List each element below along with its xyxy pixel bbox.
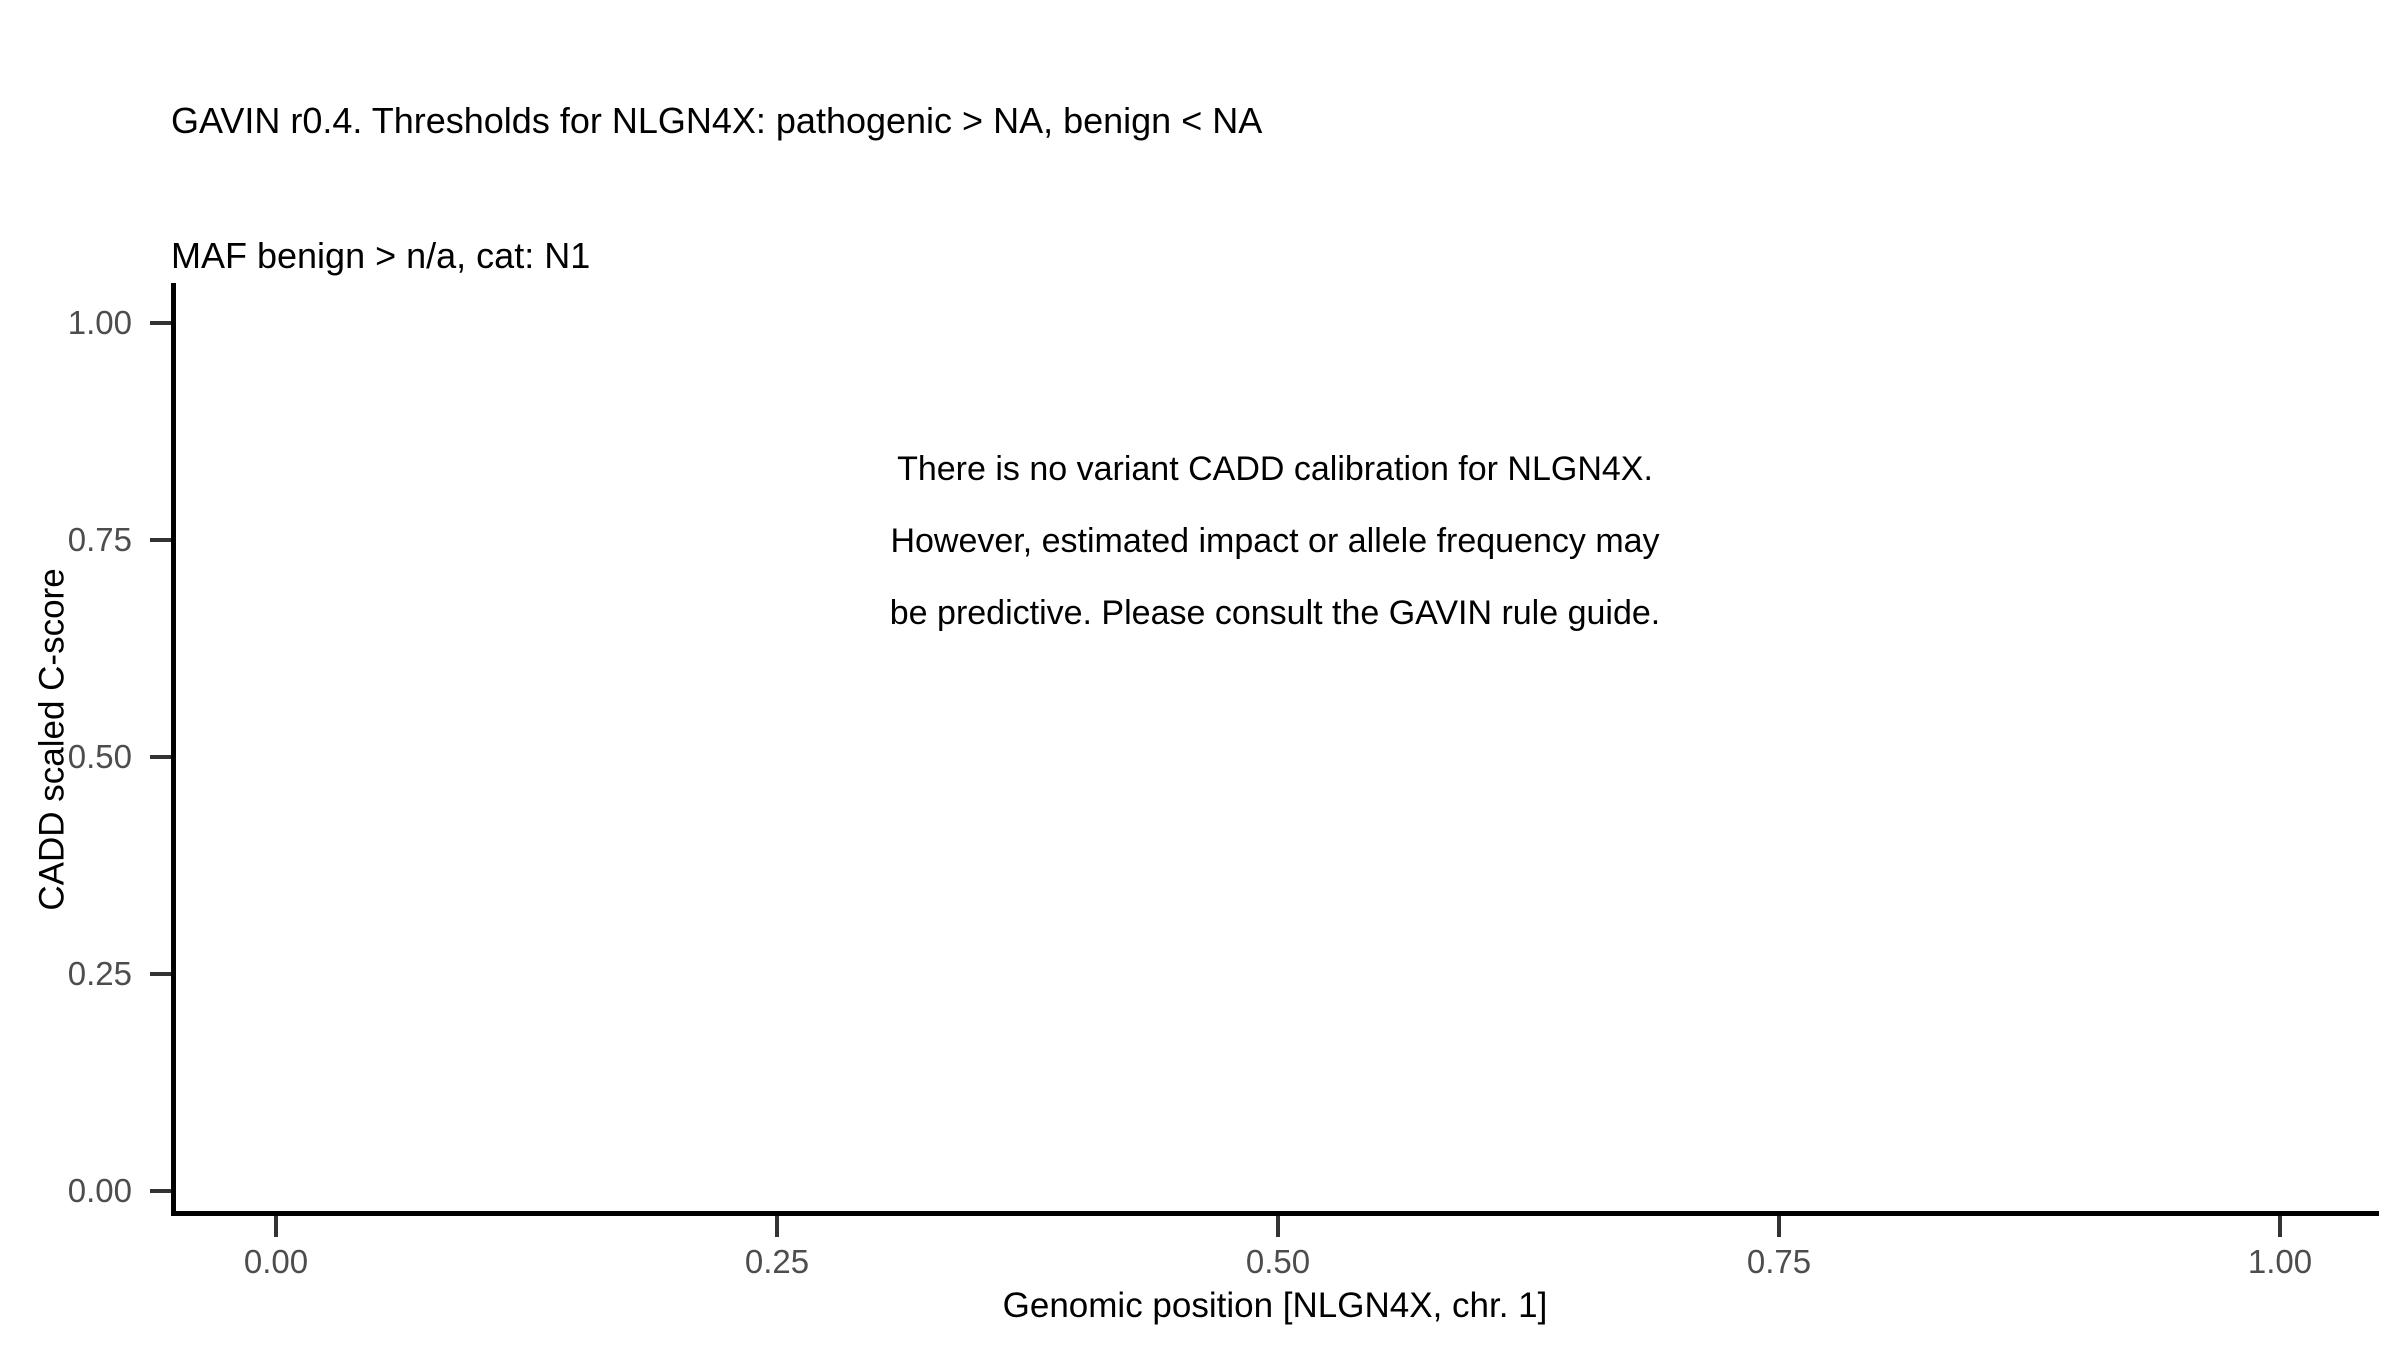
y-axis: 0.00 0.25 0.50 0.75 1.00	[0, 0, 171, 1350]
y-tick-label-text: 0.75	[68, 523, 132, 556]
y-tick-mark	[150, 1189, 171, 1193]
y-tick-label-text: 0.50	[68, 740, 132, 773]
x-tick-mark	[1276, 1216, 1280, 1237]
x-tick-mark	[2278, 1216, 2282, 1237]
y-tick-mark	[150, 321, 171, 325]
x-tick-mark	[274, 1216, 278, 1237]
x-tick-label-4: 1.00	[2180, 1245, 2380, 1278]
y-tick-label-text: 0.00	[68, 1174, 132, 1207]
x-axis-line	[171, 1211, 2379, 1216]
y-tick-label-text: 1.00	[68, 306, 132, 339]
y-tick-label-text: 0.25	[68, 957, 132, 990]
y-tick-mark	[150, 538, 171, 542]
y-axis-line	[171, 283, 176, 1216]
y-axis-title: CADD scaled C-score	[35, 340, 70, 1140]
x-tick-mark	[775, 1216, 779, 1237]
x-tick-label-3: 0.75	[1679, 1245, 1879, 1278]
plot-panel	[171, 283, 2379, 1213]
annotation-line-1: There is no variant CADD calibration for…	[171, 450, 2379, 489]
y-tick-mark	[150, 755, 171, 759]
x-tick-mark	[1777, 1216, 1781, 1237]
x-tick-label-1: 0.25	[677, 1245, 877, 1278]
plot-canvas: GAVIN r0.4. Thresholds for NLGN4X: patho…	[0, 0, 2400, 1350]
annotation-line-2: However, estimated impact or allele freq…	[171, 522, 2379, 561]
y-tick-mark	[150, 972, 171, 976]
plot-title-line-2: MAF benign > n/a, cat: N1	[171, 233, 2231, 278]
annotation-line-3: be predictive. Please consult the GAVIN …	[171, 594, 2379, 633]
plot-title-line-1: GAVIN r0.4. Thresholds for NLGN4X: patho…	[171, 98, 2231, 143]
x-tick-label-2: 0.50	[1178, 1245, 1378, 1278]
x-axis-title: Genomic position [NLGN4X, chr. 1]	[171, 1288, 2379, 1323]
x-tick-label-0: 0.00	[176, 1245, 376, 1278]
